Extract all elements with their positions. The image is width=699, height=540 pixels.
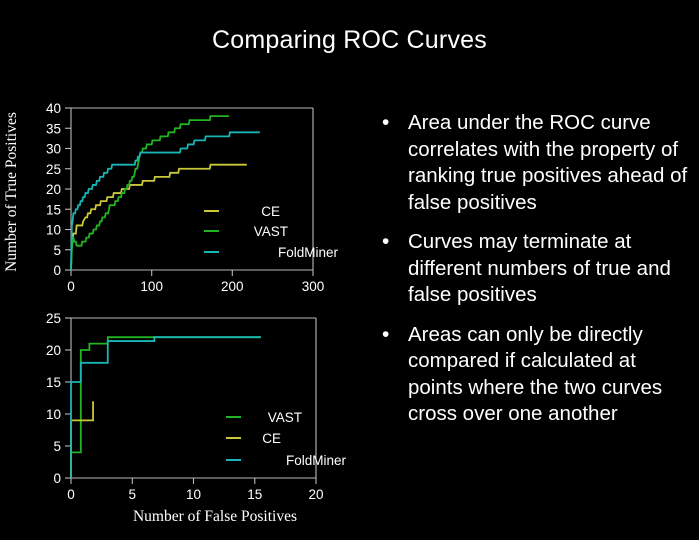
bullet-marker-icon: • [382,324,389,345]
legend-top: CE VAST FoldMiner [204,204,338,260]
plot-frame-top [71,108,313,270]
series-line-vast [71,337,261,478]
x-tick-label: 100 [140,279,163,294]
y-tick-label: 20 [46,343,61,358]
legend-label-ce: CE [262,431,281,446]
series-line-foldminer [71,337,261,478]
y-tick-label: 20 [46,182,61,197]
roc-chart-bottom-svg: 25 20 15 10 5 0 0 5 10 15 20 Numbe [0,305,360,535]
bullet-item: • Area under the ROC curve correlates wi… [374,110,692,216]
y-tick-label: 40 [46,101,61,116]
y-tick-label: 10 [46,407,61,422]
legend-bottom: VAST CE FoldMiner [226,410,346,468]
y-tick-label: 5 [53,243,61,258]
x-axis-ticks-bottom [71,478,316,484]
legend-label-foldminer: FoldMiner [278,245,339,260]
bullet-marker-icon: • [382,112,389,133]
x-tick-label: 5 [129,487,137,502]
bullet-marker-icon: • [382,231,389,252]
legend-label-ce: CE [261,204,280,219]
bullet-text: Area under the ROC curve correlates with… [408,111,687,214]
roc-chart-bottom: 25 20 15 10 5 0 0 5 10 15 20 Numbe [0,305,360,535]
x-axis-title-bottom: Number of False Positives [133,508,297,525]
y-axis-title-top: Number of True Positives [3,112,20,272]
y-tick-label: 35 [46,121,61,136]
y-tick-label: 10 [46,223,61,238]
series-line-ce [71,401,93,478]
page-title: Comparing ROC Curves [0,26,699,55]
x-tick-label: 15 [247,487,262,502]
x-axis-labels-bottom: 0 5 10 15 20 [67,487,323,502]
y-tick-label: 15 [46,375,61,390]
slide-canvas: Comparing ROC Curves [0,0,699,540]
y-tick-label: 30 [46,142,61,157]
x-tick-label: 300 [302,279,325,294]
x-axis-labels-top: 0 100 200 300 [67,279,324,294]
bullet-item: • Curves may terminate at different numb… [374,229,692,309]
series-group-top [71,116,260,270]
legend-label-vast: VAST [254,224,288,239]
series-group-bottom [71,337,261,478]
roc-chart-top-svg: 40 35 30 25 20 15 10 5 0 0 100 200 [0,92,350,300]
x-tick-label: 0 [67,279,75,294]
roc-chart-top: 40 35 30 25 20 15 10 5 0 0 100 200 [0,92,350,300]
x-tick-label: 10 [186,487,201,502]
legend-label-vast: VAST [268,410,302,425]
y-tick-label: 15 [46,202,61,217]
bullet-list: • Area under the ROC curve correlates wi… [374,110,692,441]
legend-label-foldminer: FoldMiner [286,453,347,468]
x-tick-label: 0 [67,487,75,502]
y-tick-label: 25 [46,311,61,326]
y-tick-label: 0 [53,471,61,486]
y-tick-label: 5 [53,439,61,454]
x-tick-label: 200 [221,279,244,294]
y-axis-labels-top: 40 35 30 25 20 15 10 5 0 [46,101,61,278]
y-tick-label: 0 [53,263,61,278]
series-line-foldminer [71,132,260,270]
bullet-text: Curves may terminate at different number… [408,230,671,306]
x-axis-ticks-top [71,270,313,276]
y-axis-ticks-top [65,108,71,270]
y-axis-labels-bottom: 25 20 15 10 5 0 [46,311,61,486]
bullet-text: Areas can only be directly compared if c… [408,323,662,426]
bullet-item: • Areas can only be directly compared if… [374,322,692,428]
y-tick-label: 25 [46,162,61,177]
x-tick-label: 20 [308,487,323,502]
